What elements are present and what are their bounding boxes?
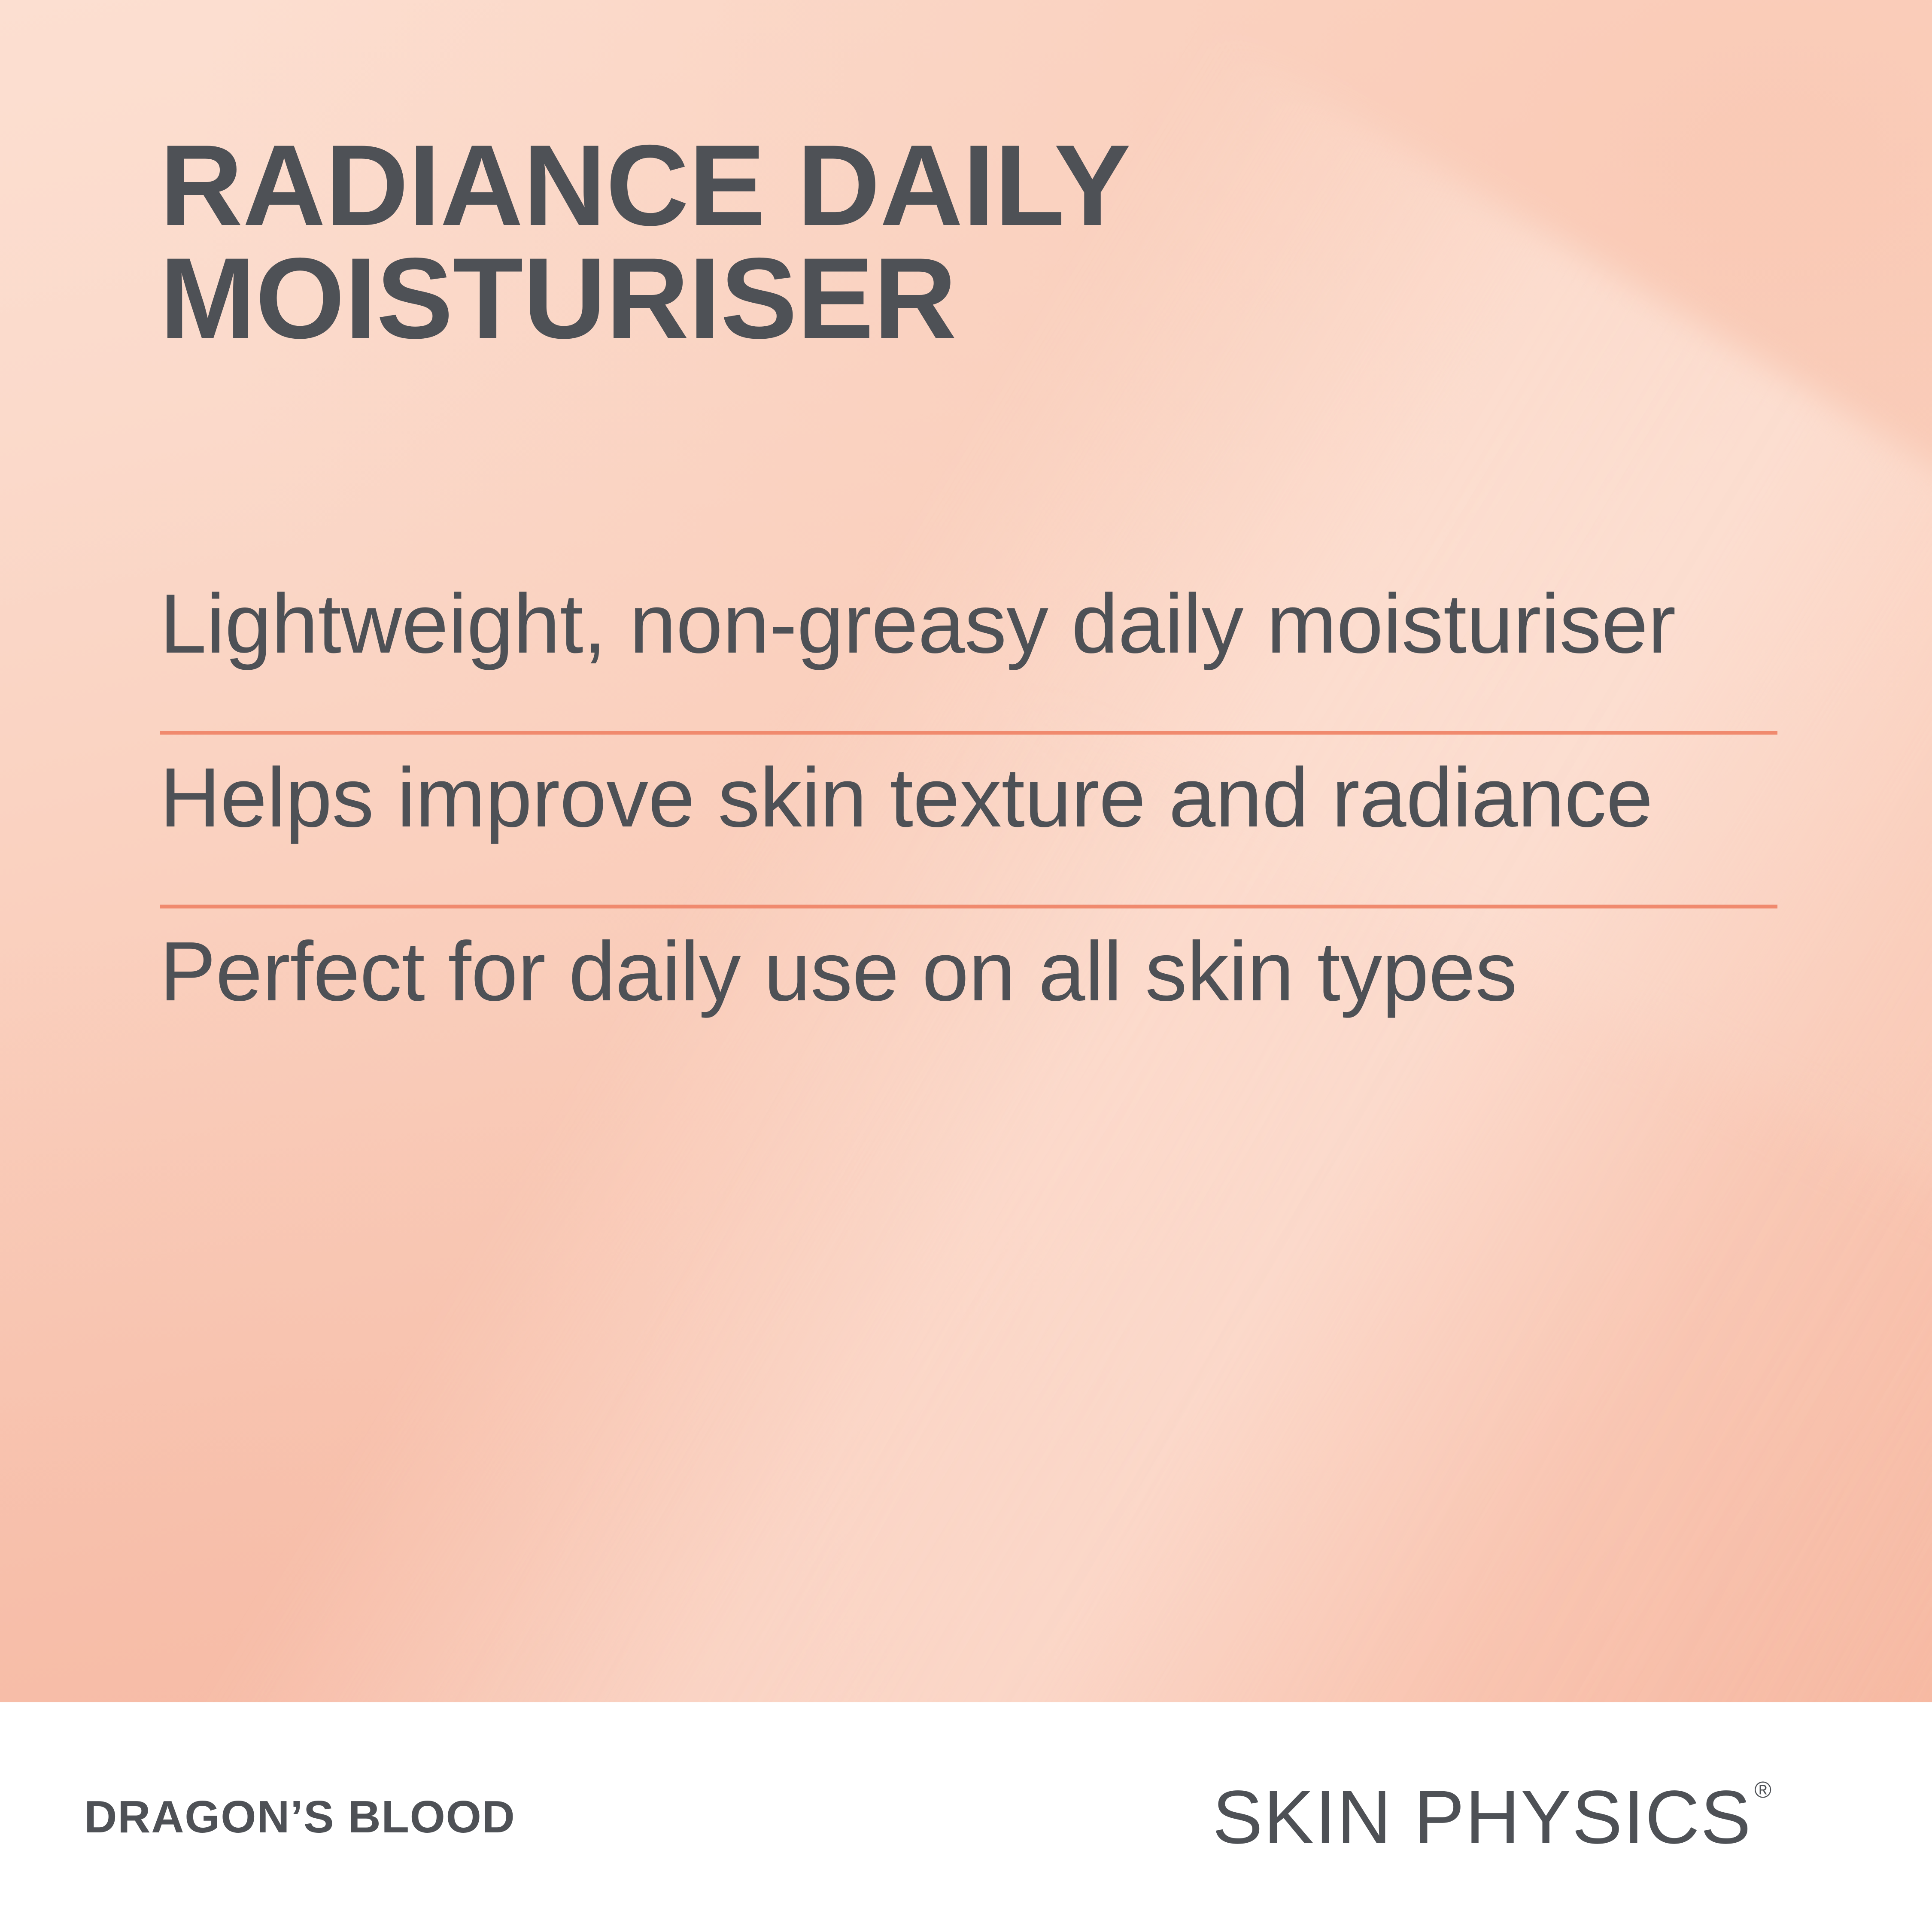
benefit-text: Lightweight, non-greasy daily moisturise… (160, 582, 1676, 666)
benefit-list: Lightweight, non-greasy daily moisturise… (160, 582, 1777, 1078)
brand-logo-text: SKIN PHYSICS (1212, 1774, 1752, 1861)
benefit-divider-2 (160, 904, 1777, 909)
product-range-label: DRAGON’S BLOOD (84, 1791, 515, 1843)
divider-rule (160, 731, 1777, 735)
benefit-item: Lightweight, non-greasy daily moisturise… (160, 582, 1777, 730)
benefit-item: Perfect for daily use on all skin types (160, 909, 1777, 1078)
registered-trademark-icon: ® (1754, 1778, 1772, 1801)
benefit-divider-1 (160, 730, 1777, 735)
page-title: RADIANCE DAILY MOISTURISER (160, 129, 1777, 354)
content-column: RADIANCE DAILY MOISTURISER Lightweight, … (160, 0, 1777, 1932)
divider-rule (160, 905, 1777, 908)
benefit-text: Helps improve skin texture and radiance (160, 756, 1653, 840)
product-benefit-card: RADIANCE DAILY MOISTURISER Lightweight, … (0, 0, 1932, 1932)
brand-logo: SKIN PHYSICS ® (1212, 1774, 1772, 1861)
benefit-text: Perfect for daily use on all skin types (160, 930, 1517, 1014)
benefit-item: Helps improve skin texture and radiance (160, 735, 1777, 904)
footer-bar: DRAGON’S BLOOD SKIN PHYSICS ® (0, 1702, 1932, 1932)
